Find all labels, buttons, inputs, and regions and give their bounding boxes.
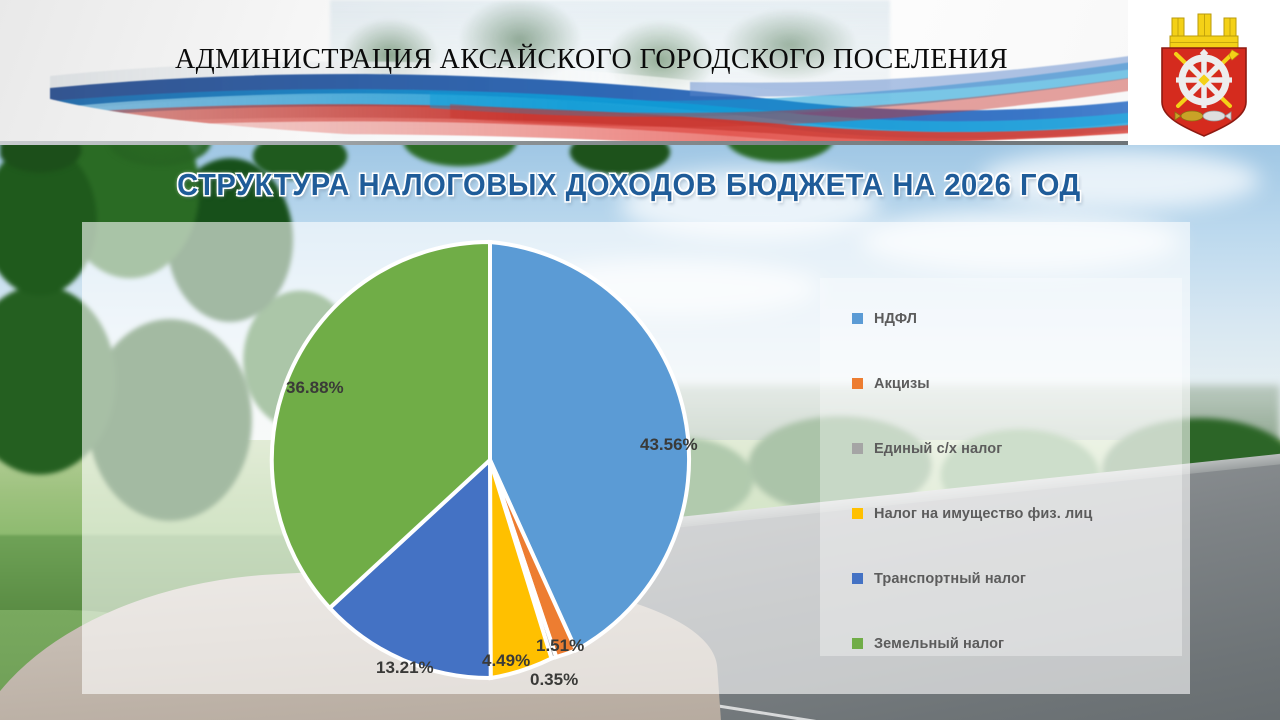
- pie-label-agri-tax: 0.35%: [530, 670, 578, 690]
- legend-swatch-icon: [852, 378, 863, 389]
- pie-label-land-tax: 36.88%: [286, 378, 344, 398]
- pie-chart-svg: [268, 238, 712, 682]
- chart-legend: НДФЛ Акцизы Единый с/х налог Налог на им…: [852, 286, 1182, 676]
- legend-label: Транспортный налог: [874, 571, 1026, 587]
- pie-label-excise: 1.51%: [536, 636, 584, 656]
- legend-item-excise[interactable]: Акцизы: [852, 351, 1182, 416]
- legend-item-ndfl[interactable]: НДФЛ: [852, 286, 1182, 351]
- legend-label: НДФЛ: [874, 311, 917, 327]
- presentation-slide: АДМИНИСТРАЦИЯ АКСАЙСКОГО ГОРОДСКОГО ПОСЕ…: [0, 0, 1280, 720]
- header-bottom-rule: [0, 141, 1128, 145]
- legend-label: Земельный налог: [874, 636, 1004, 652]
- pie-label-ndfl: 43.56%: [640, 435, 698, 455]
- legend-swatch-icon: [852, 638, 863, 649]
- legend-label: Единый с/х налог: [874, 441, 1002, 457]
- legend-item-transport-tax[interactable]: Транспортный налог: [852, 546, 1182, 611]
- organization-title: АДМИНИСТРАЦИЯ АКСАЙСКОГО ГОРОДСКОГО ПОСЕ…: [175, 44, 1008, 76]
- legend-item-land-tax[interactable]: Земельный налог: [852, 611, 1182, 676]
- legend-label: Акцизы: [874, 376, 930, 392]
- legend-item-property-tax[interactable]: Налог на имущество физ. лиц: [852, 481, 1182, 546]
- legend-item-agri-tax[interactable]: Единый с/х налог: [852, 416, 1182, 481]
- pie-chart: 43.56% 1.51% 0.35% 4.49% 13.21% 36.88%: [268, 238, 712, 682]
- pie-label-property-tax: 4.49%: [482, 651, 530, 671]
- legend-swatch-icon: [852, 443, 863, 454]
- legend-swatch-icon: [852, 573, 863, 584]
- legend-label: Налог на имущество физ. лиц: [874, 506, 1092, 522]
- pie-label-transport-tax: 13.21%: [376, 658, 434, 678]
- header-banner: АДМИНИСТРАЦИЯ АКСАЙСКОГО ГОРОДСКОГО ПОСЕ…: [0, 0, 1280, 145]
- page-title: СТРУКТУРА НАЛОГОВЫХ ДОХОДОВ БЮДЖЕТА НА 2…: [107, 167, 1150, 203]
- legend-swatch-icon: [852, 313, 863, 324]
- coat-of-arms-icon: [1144, 6, 1264, 140]
- legend-swatch-icon: [852, 508, 863, 519]
